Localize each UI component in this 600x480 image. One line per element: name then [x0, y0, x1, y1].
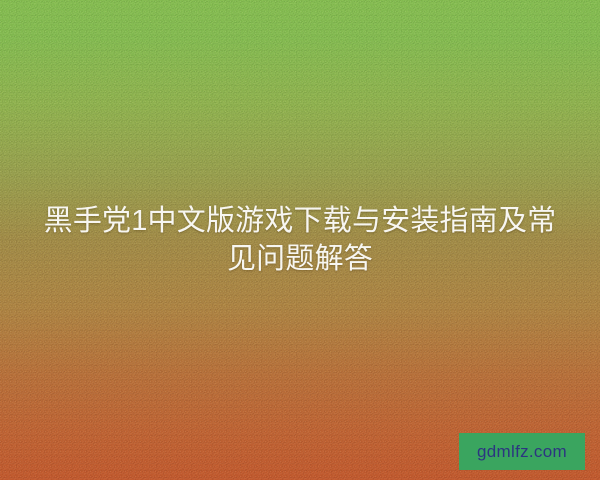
banner-canvas: 黑手党1中文版游戏下载与安装指南及常见问题解答 gdmlfz.com — [0, 0, 600, 480]
banner-title: 黑手党1中文版游戏下载与安装指南及常见问题解答 — [30, 202, 570, 278]
watermark-badge[interactable]: gdmlfz.com — [459, 433, 585, 470]
watermark-domain-label: gdmlfz.com — [477, 443, 567, 460]
title-container: 黑手党1中文版游戏下载与安装指南及常见问题解答 — [0, 0, 600, 480]
